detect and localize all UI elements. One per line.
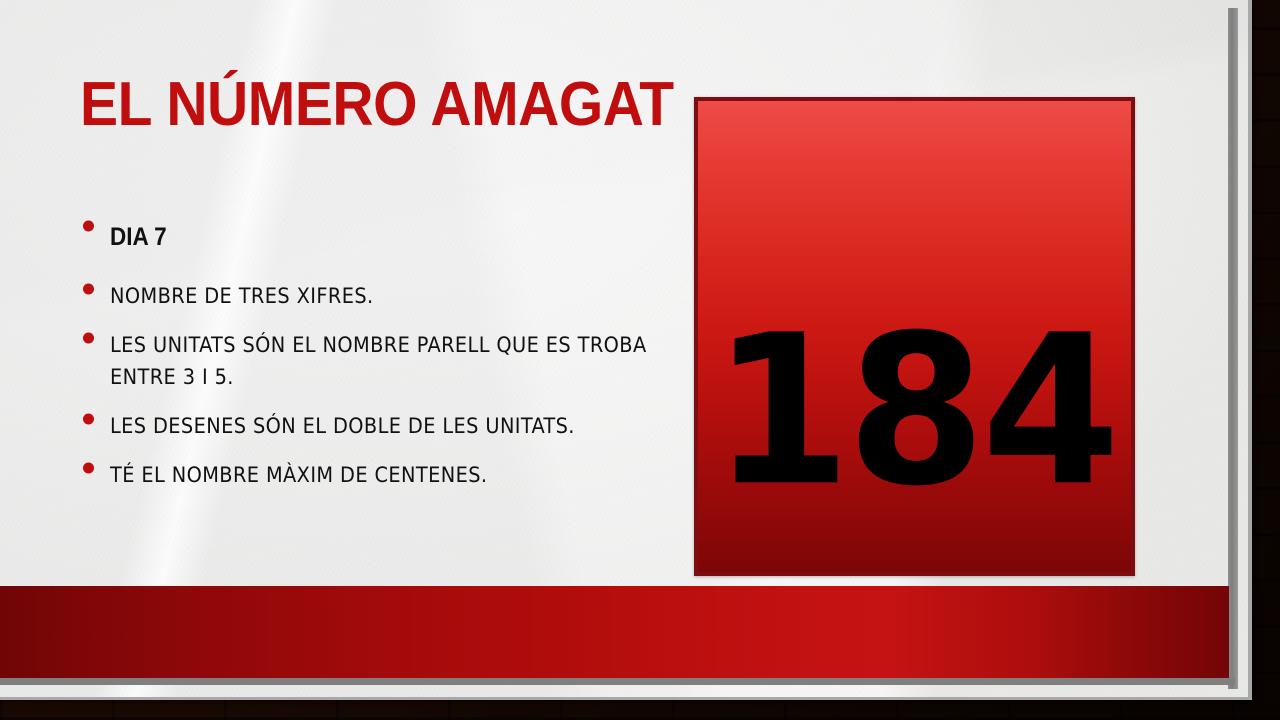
paper-frame-shadow: EL NÚMERO AMAGAT DIA 7 NOMBRE DE TRES XI… <box>0 0 1252 700</box>
list-item-label: TÉ EL NOMBRE MÀXIM DE CENTENES. <box>110 460 670 493</box>
bullet-dot-icon <box>83 414 94 425</box>
list-item-label: LES UNITATS SÓN EL NOMBRE PARELL QUE ES … <box>110 330 670 395</box>
bullet-dot-icon <box>83 463 94 474</box>
right-vertical-rule <box>1228 8 1238 689</box>
list-item: LES DESENES SÓN EL DOBLE DE LES UNITATS. <box>80 411 670 444</box>
paper-sheet-background: EL NÚMERO AMAGAT DIA 7 NOMBRE DE TRES XI… <box>0 0 1248 697</box>
list-item: TÉ EL NOMBRE MÀXIM DE CENTENES. <box>80 460 670 493</box>
answer-number-text: 184 <box>712 320 1116 572</box>
list-item: DIA 7 <box>80 218 670 256</box>
bullet-dot-icon <box>83 284 94 295</box>
answer-image-box: 184 <box>694 97 1135 576</box>
bottom-red-band <box>0 586 1229 678</box>
bullet-list: DIA 7 NOMBRE DE TRES XIFRES. LES UNITATS… <box>80 218 670 508</box>
list-item: LES UNITATS SÓN EL NOMBRE PARELL QUE ES … <box>80 330 670 395</box>
list-item-label: NOMBRE DE TRES XIFRES. <box>110 281 670 314</box>
list-item-label: LES DESENES SÓN EL DOBLE DE LES UNITATS. <box>110 411 670 444</box>
slide-background-wall: EL NÚMERO AMAGAT DIA 7 NOMBRE DE TRES XI… <box>0 0 1280 720</box>
list-item-label: DIA 7 <box>110 218 614 256</box>
list-item: NOMBRE DE TRES XIFRES. <box>80 281 670 314</box>
bullet-dot-icon <box>83 220 94 231</box>
bottom-band-underline <box>0 678 1235 685</box>
page-title: EL NÚMERO AMAGAT <box>80 74 632 136</box>
bullet-dot-icon <box>83 332 94 343</box>
